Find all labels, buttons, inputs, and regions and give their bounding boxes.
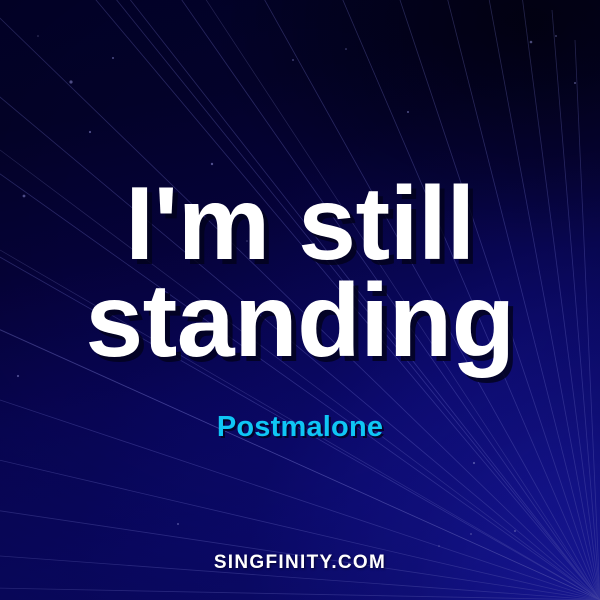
lyric-quote-card: I'm still standing Postmalone SINGFINITY… bbox=[0, 0, 600, 600]
lyric-title: I'm still standing bbox=[0, 176, 600, 369]
brand-watermark: SINGFINITY.COM bbox=[0, 552, 600, 574]
artist-name: Postmalone bbox=[0, 411, 600, 444]
card-content: I'm still standing Postmalone SINGFINITY… bbox=[0, 0, 600, 600]
